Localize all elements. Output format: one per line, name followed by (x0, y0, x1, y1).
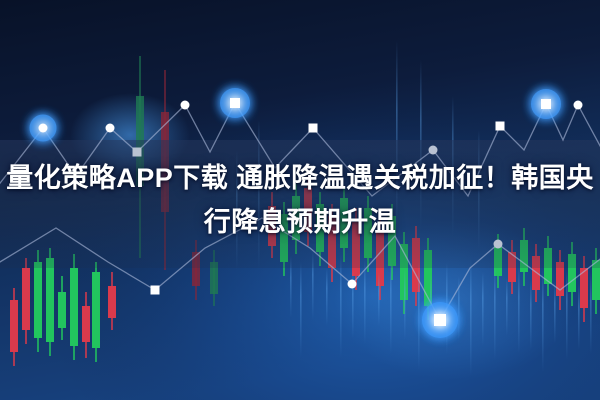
news-banner-image: 量化策略APP下载 通胀降温遇关税加征！韩国央 行降息预期升温 (0, 0, 600, 400)
trend-line-layer (0, 0, 600, 400)
